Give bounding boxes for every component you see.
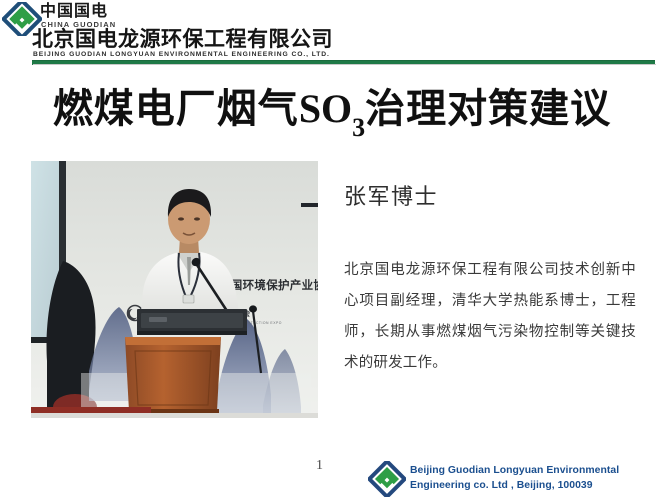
page-number: 1 bbox=[316, 458, 323, 474]
footer-company-name: Beijing Guodian Longyuan Environmental E… bbox=[410, 463, 660, 493]
speaker-photo: 中国环境保护产业协会 第十五届中国国际环保展览会 CHINA INTERNATI… bbox=[31, 161, 318, 418]
speaker-name: 张军博士 bbox=[344, 182, 438, 212]
brand-name-cn: 中国国电 bbox=[40, 3, 108, 20]
speaker-bio: 北京国电龙源环保工程有限公司技术创新中心项目副经理，清华大学热能系博士，工程师，… bbox=[344, 255, 636, 379]
title-part-1: 燃煤电厂烟气 bbox=[53, 87, 299, 131]
slide-header: 中国国电 CHINA GUODIAN 北京国电龙源环保工程有限公司 BEIJIN… bbox=[0, 0, 664, 66]
footer-company-line-1: Beijing Guodian Longyuan Environmental bbox=[410, 463, 660, 478]
footer-company-line-2: Engineering co. Ltd , Beijing, 100039 bbox=[410, 478, 660, 493]
title-formula-so: SO bbox=[299, 86, 352, 131]
header-divider-shadow bbox=[33, 64, 656, 65]
title-part-2: 治理对策建议 bbox=[365, 87, 611, 131]
company-name-en: BEIJING GUODIAN LONGYUAN ENVIRONMENTAL E… bbox=[33, 51, 330, 59]
company-name-cn: 北京国电龙源环保工程有限公司 bbox=[32, 28, 333, 51]
guodian-diamond-logo-icon-footer bbox=[368, 461, 406, 497]
title-formula-subscript: 3 bbox=[352, 113, 365, 142]
page-title: 燃煤电厂烟气SO3治理对策建议 bbox=[0, 84, 664, 148]
